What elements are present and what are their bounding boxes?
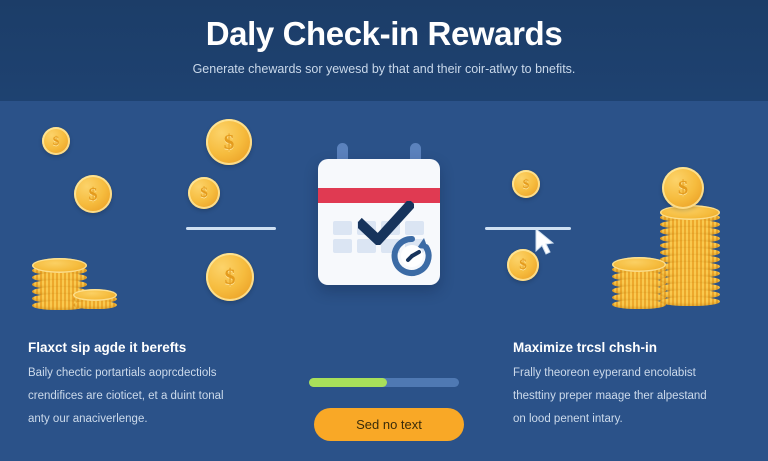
coin-symbol: $ bbox=[200, 185, 208, 202]
page-subtitle: Generate chewards sor yewesd by that and… bbox=[0, 60, 768, 78]
calendar-check-icon bbox=[310, 143, 450, 291]
coin-symbol: $ bbox=[224, 130, 235, 155]
coin-left-medium-icon: $ bbox=[74, 175, 112, 213]
coin-symbol: $ bbox=[678, 177, 688, 200]
coin-symbol: $ bbox=[519, 257, 527, 274]
coin-right-small-icon: $ bbox=[512, 170, 540, 198]
coin-left-small-icon: $ bbox=[42, 127, 70, 155]
left-body-line-1: Baily chectic portartials aoprcdectiols bbox=[28, 362, 273, 385]
progress-bar-fill bbox=[309, 378, 387, 387]
calendar-clock-icon bbox=[391, 235, 433, 277]
page-body: $ $ $ $ $ bbox=[0, 101, 768, 461]
coin-stack-short-icon bbox=[612, 257, 666, 309]
coin-stack-layer bbox=[73, 301, 117, 309]
coin-stack-layer bbox=[612, 300, 666, 309]
reward-promo-page: Daly Check-in Rewards Generate chewards … bbox=[0, 0, 768, 461]
pointer-cursor-icon bbox=[533, 227, 555, 257]
right-body-line-2: thesttiny preper maage ther alpestand bbox=[513, 385, 753, 408]
coin-stack-top-face bbox=[612, 257, 666, 272]
cta-button[interactable]: Sed no text bbox=[314, 408, 464, 441]
coin-stack-top-face bbox=[32, 258, 87, 273]
progress-bar-track[interactable] bbox=[309, 378, 459, 387]
coin-left-big-icon: $ bbox=[206, 253, 254, 301]
coin-symbol: $ bbox=[53, 133, 60, 149]
left-body-line-3: anty our anaciverlenge. bbox=[28, 408, 273, 431]
coin-left-large-icon: $ bbox=[206, 119, 252, 165]
right-column-body: Frally theoreon eyperand encolabist thes… bbox=[513, 362, 753, 431]
page-header: Daly Check-in Rewards Generate chewards … bbox=[0, 0, 768, 101]
coin-right-small2-icon: $ bbox=[507, 249, 539, 281]
page-title: Daly Check-in Rewards bbox=[0, 14, 768, 54]
divider-right bbox=[485, 227, 571, 230]
calendar-card bbox=[318, 159, 440, 285]
calendar-day-cell bbox=[333, 221, 352, 235]
left-column-body: Baily chectic portartials aoprcdectiols … bbox=[28, 362, 273, 431]
right-body-line-3: on lood penent intary. bbox=[513, 408, 753, 431]
coin-stack-layer bbox=[660, 297, 720, 306]
coin-symbol: $ bbox=[523, 176, 530, 192]
coin-symbol: $ bbox=[225, 264, 236, 290]
right-body-line-1: Frally theoreon eyperand encolabist bbox=[513, 362, 753, 385]
coin-stack-top-icon: $ bbox=[662, 167, 704, 209]
right-column-heading: Maximize trcsl chsh-in bbox=[513, 340, 657, 355]
coin-stack-tall-icon bbox=[660, 205, 720, 309]
coin-left-mid-icon: $ bbox=[188, 177, 220, 209]
coin-stack-left-front-icon bbox=[73, 289, 117, 311]
coin-stack-top-face bbox=[73, 289, 117, 301]
left-body-line-2: crendifices are cioticet, et a duint ton… bbox=[28, 385, 273, 408]
left-column-heading: Flaxct sip agde it berefts bbox=[28, 340, 186, 355]
coin-symbol: $ bbox=[89, 184, 98, 205]
divider-left bbox=[186, 227, 276, 230]
calendar-day-cell bbox=[333, 239, 352, 253]
